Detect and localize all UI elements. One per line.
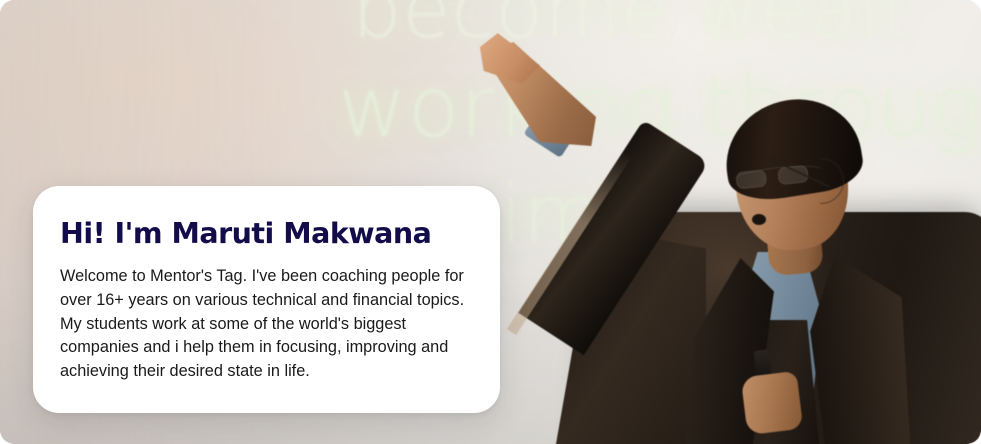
headset-mic-capsule [752,214,766,225]
eyeglasses-left-lens [736,169,768,189]
intro-card-body: Welcome to Mentor's Tag. I've been coach… [60,265,470,383]
intro-card-title: Hi! I'm Maruti Makwana [60,218,470,249]
hero-banner: become wealt working throug ime [0,0,981,444]
speaker-lower-hand [741,371,804,435]
intro-card: Hi! I'm Maruti Makwana Welcome to Mentor… [33,186,500,413]
